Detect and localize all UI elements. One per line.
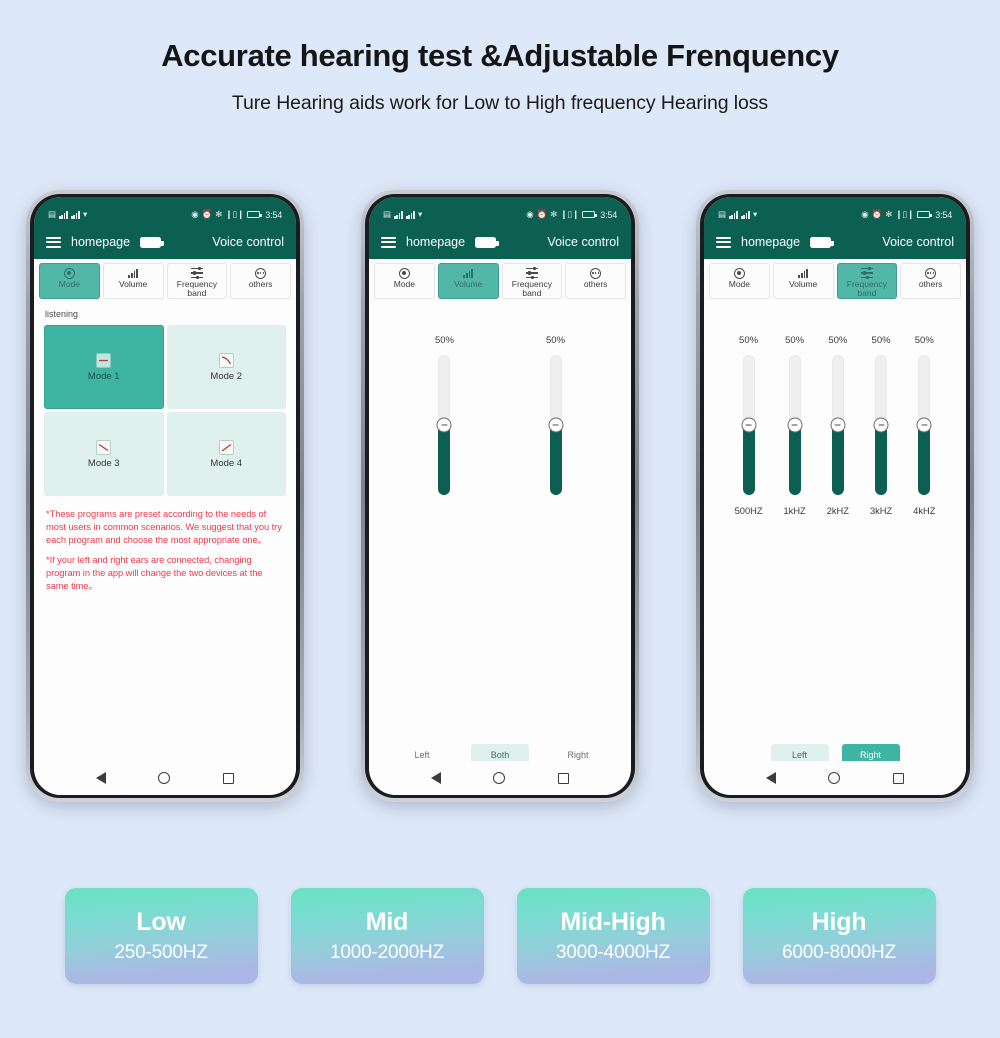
tab-frequency-band[interactable]: Frequency band <box>167 263 228 299</box>
volume-slider-group: 50% 50% <box>369 301 631 495</box>
voice-control-button[interactable]: Voice control <box>882 235 954 249</box>
screen-body-mode: listening Mode 1 Mode 2 <box>34 301 296 761</box>
battery-icon <box>917 211 930 218</box>
volume-slider-left-percent: 50% <box>435 335 454 346</box>
phone-bezel: ▤ ▾ ◉ ⏰ ✻ ❙▯❙ 3:54 homepage Voi <box>365 194 635 798</box>
status-bar-right-icons: ◉ ⏰ ✻ ❙▯❙ 3:54 <box>526 210 617 220</box>
volume-slider-left: 50% <box>435 335 454 495</box>
hamburger-menu-icon[interactable] <box>716 237 731 248</box>
app-bar: homepage Voice control <box>704 225 966 259</box>
frequency-slider-1khz-percent: 50% <box>785 335 804 346</box>
frequency-slider-2khz: 50% 2kHZ <box>827 335 849 516</box>
sim-card-icon: ▤ <box>383 210 391 219</box>
slider-thumb[interactable] <box>917 418 932 433</box>
tab-others-label: others <box>919 280 943 289</box>
home-circle-icon[interactable] <box>158 772 170 784</box>
battery-icon <box>582 211 595 218</box>
back-triangle-icon[interactable] <box>96 772 106 784</box>
voice-control-button[interactable]: Voice control <box>212 235 284 249</box>
slider-thumb[interactable] <box>548 418 563 433</box>
frequency-card-low-range: 250-500HZ <box>114 942 207 964</box>
tab-frequency-band-label: Frequency band <box>503 280 562 298</box>
target-circle-icon <box>399 267 410 279</box>
android-nav-bar <box>34 761 296 795</box>
target-circle-icon <box>64 267 75 279</box>
mode-card-1[interactable]: Mode 1 <box>44 325 164 409</box>
section-label-listening: listening <box>34 301 296 319</box>
vibrate-icon: ❙▯❙ <box>225 210 244 219</box>
slider-fill <box>875 425 887 495</box>
frequency-slider-4khz-label: 4kHZ <box>913 506 935 516</box>
sim-card-icon: ▤ <box>718 210 726 219</box>
frequency-slider-3khz-track[interactable] <box>875 355 887 495</box>
bluetooth-icon: ✻ <box>215 210 222 219</box>
slider-fill <box>550 425 562 495</box>
phone-bezel: ▤ ▾ ◉ ⏰ ✻ ❙▯❙ 3:54 homepage Voi <box>700 194 970 798</box>
frequency-card-row: Low 250-500HZ Mid 1000-2000HZ Mid-High 3… <box>0 888 1000 984</box>
frequency-slider-1khz-track[interactable] <box>789 355 801 495</box>
recents-square-icon[interactable] <box>893 773 904 784</box>
wifi-icon: ▾ <box>83 210 87 219</box>
tab-volume[interactable]: Volume <box>438 263 499 299</box>
audiogram-rise-icon <box>219 440 234 455</box>
wifi-icon: ▾ <box>418 210 422 219</box>
tab-frequency-band-label: Frequency band <box>168 280 227 298</box>
ear-button-right[interactable]: Right <box>842 744 900 761</box>
screen-body-frequency: 50% 500HZ 50% 1kHZ <box>704 301 966 761</box>
eye-icon: ◉ <box>526 210 533 219</box>
volume-slider-right-track[interactable] <box>550 355 562 495</box>
frequency-slider-1khz: 50% 1kHZ <box>784 335 806 516</box>
frequency-card-high-range: 6000-8000HZ <box>782 942 896 964</box>
hamburger-menu-icon[interactable] <box>46 237 61 248</box>
phone-mockup-row: ▤ ▾ ◉ ⏰ ✻ ❙▯❙ 3:54 homepage Voi <box>0 190 1000 802</box>
page-title: Accurate hearing test &Adjustable Frenqu… <box>0 38 1000 74</box>
volume-slider-right: 50% <box>546 335 565 495</box>
home-circle-icon[interactable] <box>493 772 505 784</box>
status-bar: ▤ ▾ ◉ ⏰ ✻ ❙▯❙ 3:54 <box>369 197 631 225</box>
slider-fill <box>832 425 844 495</box>
ellipsis-circle-icon <box>590 267 601 279</box>
tab-bar: Mode Volume Frequency band others <box>34 259 296 301</box>
alarm-icon: ⏰ <box>202 210 213 219</box>
phone-screen: ▤ ▾ ◉ ⏰ ✻ ❙▯❙ 3:54 homepage Voi <box>704 197 966 795</box>
mode-card-2-label: Mode 2 <box>210 371 242 382</box>
phone-mockup-mode: ▤ ▾ ◉ ⏰ ✻ ❙▯❙ 3:54 homepage Voi <box>26 190 304 802</box>
frequency-card-mid-title: Mid <box>366 908 408 937</box>
sim-card-icon: ▤ <box>48 210 56 219</box>
frequency-slider-500hz-label: 500HZ <box>735 506 763 516</box>
app-bar: homepage Voice control <box>34 225 296 259</box>
ear-button-left[interactable]: Left <box>771 744 829 761</box>
tab-volume-label: Volume <box>454 280 482 289</box>
frequency-slider-group: 50% 500HZ 50% 1kHZ <box>704 301 966 516</box>
mode-card-4[interactable]: Mode 4 <box>167 412 287 496</box>
eye-icon: ◉ <box>861 210 868 219</box>
tab-bar: Mode Volume Frequency band others <box>369 259 631 301</box>
vibrate-icon: ❙▯❙ <box>560 210 579 219</box>
signal-bars-icon <box>729 211 738 219</box>
equalizer-sliders-icon <box>191 267 203 279</box>
frequency-slider-500hz-percent: 50% <box>739 335 758 346</box>
status-bar-right-icons: ◉ ⏰ ✻ ❙▯❙ 3:54 <box>861 210 952 220</box>
mode-card-1-label: Mode 1 <box>88 371 120 382</box>
slider-thumb[interactable] <box>741 418 756 433</box>
equalizer-sliders-icon <box>526 267 538 279</box>
battery-icon <box>247 211 260 218</box>
frequency-slider-3khz: 50% 3kHZ <box>870 335 892 516</box>
tab-volume[interactable]: Volume <box>773 263 834 299</box>
frequency-card-high: High 6000-8000HZ <box>743 888 936 984</box>
signal-bars-icon-2 <box>71 211 80 219</box>
frequency-card-high-title: High <box>812 908 867 937</box>
tab-others[interactable]: others <box>565 263 626 299</box>
volume-slider-left-track[interactable] <box>438 355 450 495</box>
audiogram-flat-icon <box>96 353 111 368</box>
volume-bars-icon <box>463 267 472 279</box>
recents-square-icon[interactable] <box>558 773 569 784</box>
frequency-slider-2khz-percent: 50% <box>828 335 847 346</box>
ear-select-row: Left Both Right <box>369 744 631 761</box>
alarm-icon: ⏰ <box>537 210 548 219</box>
home-circle-icon[interactable] <box>828 772 840 784</box>
note-preset-programs: *These programs are preset according to … <box>46 508 284 546</box>
tab-bar: Mode Volume Frequency band others <box>704 259 966 301</box>
back-triangle-icon[interactable] <box>431 772 441 784</box>
frequency-slider-4khz: 50% 4kHZ <box>913 335 935 516</box>
mode-card-3-label: Mode 3 <box>88 458 120 469</box>
tab-others[interactable]: others <box>900 263 961 299</box>
target-circle-icon <box>734 267 745 279</box>
mode-grid: Mode 1 Mode 2 Mode 3 <box>34 319 296 496</box>
frequency-slider-3khz-label: 3kHZ <box>870 506 892 516</box>
eye-icon: ◉ <box>191 210 198 219</box>
notes-section: *These programs are preset according to … <box>34 496 296 593</box>
status-bar-right-icons: ◉ ⏰ ✻ ❙▯❙ 3:54 <box>191 210 282 220</box>
tab-volume-label: Volume <box>119 280 147 289</box>
phone-mockup-frequency: ▤ ▾ ◉ ⏰ ✻ ❙▯❙ 3:54 homepage Voi <box>696 190 974 802</box>
frequency-slider-500hz: 50% 500HZ <box>735 335 763 516</box>
bluetooth-icon: ✻ <box>550 210 557 219</box>
ellipsis-circle-icon <box>925 267 936 279</box>
frequency-card-low: Low 250-500HZ <box>65 888 258 984</box>
signal-bars-icon <box>394 211 403 219</box>
tab-others[interactable]: others <box>230 263 291 299</box>
slider-fill <box>789 425 801 495</box>
frequency-slider-4khz-percent: 50% <box>915 335 934 346</box>
frequency-card-mid-range: 1000-2000HZ <box>330 942 444 964</box>
frequency-slider-3khz-percent: 50% <box>872 335 891 346</box>
status-bar-time: 3:54 <box>600 210 617 220</box>
frequency-slider-2khz-label: 2kHZ <box>827 506 849 516</box>
signal-bars-icon-2 <box>741 211 750 219</box>
phone-bezel: ▤ ▾ ◉ ⏰ ✻ ❙▯❙ 3:54 homepage Voi <box>30 194 300 798</box>
ear-select-row: Left Right <box>704 744 966 761</box>
status-bar-left-icons: ▤ ▾ <box>383 210 422 219</box>
slider-fill <box>438 425 450 495</box>
tab-mode-label: Mode <box>59 280 80 289</box>
phone-screen: ▤ ▾ ◉ ⏰ ✻ ❙▯❙ 3:54 homepage Voi <box>369 197 631 795</box>
app-bar-title: homepage <box>406 235 465 249</box>
frequency-card-mid-high-range: 3000-4000HZ <box>556 942 670 964</box>
vibrate-icon: ❙▯❙ <box>895 210 914 219</box>
device-battery-icon <box>810 237 831 248</box>
tab-frequency-band-label: Frequency band <box>838 280 897 298</box>
frequency-card-mid-high-title: Mid-High <box>560 908 665 937</box>
alarm-icon: ⏰ <box>872 210 883 219</box>
slider-thumb[interactable] <box>437 418 452 433</box>
ear-button-both[interactable]: Both <box>471 744 529 761</box>
tab-mode-label: Mode <box>394 280 415 289</box>
app-bar: homepage Voice control <box>369 225 631 259</box>
frequency-slider-1khz-label: 1kHZ <box>784 506 806 516</box>
frequency-slider-2khz-track[interactable] <box>832 355 844 495</box>
android-nav-bar <box>704 761 966 795</box>
signal-bars-icon <box>59 211 68 219</box>
tab-volume[interactable]: Volume <box>103 263 164 299</box>
mode-card-2[interactable]: Mode 2 <box>167 325 287 409</box>
wifi-icon: ▾ <box>753 210 757 219</box>
mode-card-3[interactable]: Mode 3 <box>44 412 164 496</box>
audiogram-gentle-slope-icon <box>96 440 111 455</box>
device-battery-icon <box>475 237 496 248</box>
ear-button-right[interactable]: Right <box>549 744 607 761</box>
screen-body-volume: 50% 50% Left <box>369 301 631 761</box>
recents-square-icon[interactable] <box>223 773 234 784</box>
volume-bars-icon <box>128 267 137 279</box>
tab-others-label: others <box>584 280 608 289</box>
mode-card-4-label: Mode 4 <box>210 458 242 469</box>
tab-volume-label: Volume <box>789 280 817 289</box>
hamburger-menu-icon[interactable] <box>381 237 396 248</box>
android-nav-bar <box>369 761 631 795</box>
tab-mode-label: Mode <box>729 280 750 289</box>
ellipsis-circle-icon <box>255 267 266 279</box>
page-subtitle: Ture Hearing aids work for Low to High f… <box>0 92 1000 115</box>
back-triangle-icon[interactable] <box>766 772 776 784</box>
slider-thumb[interactable] <box>874 418 889 433</box>
audiogram-slope-icon <box>219 353 234 368</box>
tab-frequency-band[interactable]: Frequency band <box>837 263 898 299</box>
status-bar-left-icons: ▤ ▾ <box>48 210 87 219</box>
tab-mode[interactable]: Mode <box>374 263 435 299</box>
slider-thumb[interactable] <box>787 418 802 433</box>
note-both-ears: *If your left and right ears are connect… <box>46 554 284 592</box>
device-battery-icon <box>140 237 161 248</box>
status-bar-time: 3:54 <box>265 210 282 220</box>
status-bar: ▤ ▾ ◉ ⏰ ✻ ❙▯❙ 3:54 <box>704 197 966 225</box>
slider-fill <box>743 425 755 495</box>
slider-thumb[interactable] <box>830 418 845 433</box>
frequency-card-mid-high: Mid-High 3000-4000HZ <box>517 888 710 984</box>
signal-bars-icon-2 <box>406 211 415 219</box>
volume-bars-icon <box>798 267 807 279</box>
tab-others-label: others <box>249 280 273 289</box>
frequency-slider-500hz-track[interactable] <box>743 355 755 495</box>
ear-button-left[interactable]: Left <box>393 744 451 761</box>
status-bar-time: 3:54 <box>935 210 952 220</box>
status-bar-left-icons: ▤ ▾ <box>718 210 757 219</box>
status-bar: ▤ ▾ ◉ ⏰ ✻ ❙▯❙ 3:54 <box>34 197 296 225</box>
phone-mockup-volume: ▤ ▾ ◉ ⏰ ✻ ❙▯❙ 3:54 homepage Voi <box>361 190 639 802</box>
tab-mode[interactable]: Mode <box>39 263 100 299</box>
frequency-card-low-title: Low <box>136 908 185 937</box>
frequency-card-mid: Mid 1000-2000HZ <box>291 888 484 984</box>
app-bar-title: homepage <box>71 235 130 249</box>
tab-mode[interactable]: Mode <box>709 263 770 299</box>
voice-control-button[interactable]: Voice control <box>547 235 619 249</box>
app-bar-title: homepage <box>741 235 800 249</box>
slider-fill <box>918 425 930 495</box>
bluetooth-icon: ✻ <box>885 210 892 219</box>
volume-slider-right-percent: 50% <box>546 335 565 346</box>
phone-screen: ▤ ▾ ◉ ⏰ ✻ ❙▯❙ 3:54 homepage Voi <box>34 197 296 795</box>
tab-frequency-band[interactable]: Frequency band <box>502 263 563 299</box>
frequency-slider-4khz-track[interactable] <box>918 355 930 495</box>
equalizer-sliders-icon <box>861 267 873 279</box>
